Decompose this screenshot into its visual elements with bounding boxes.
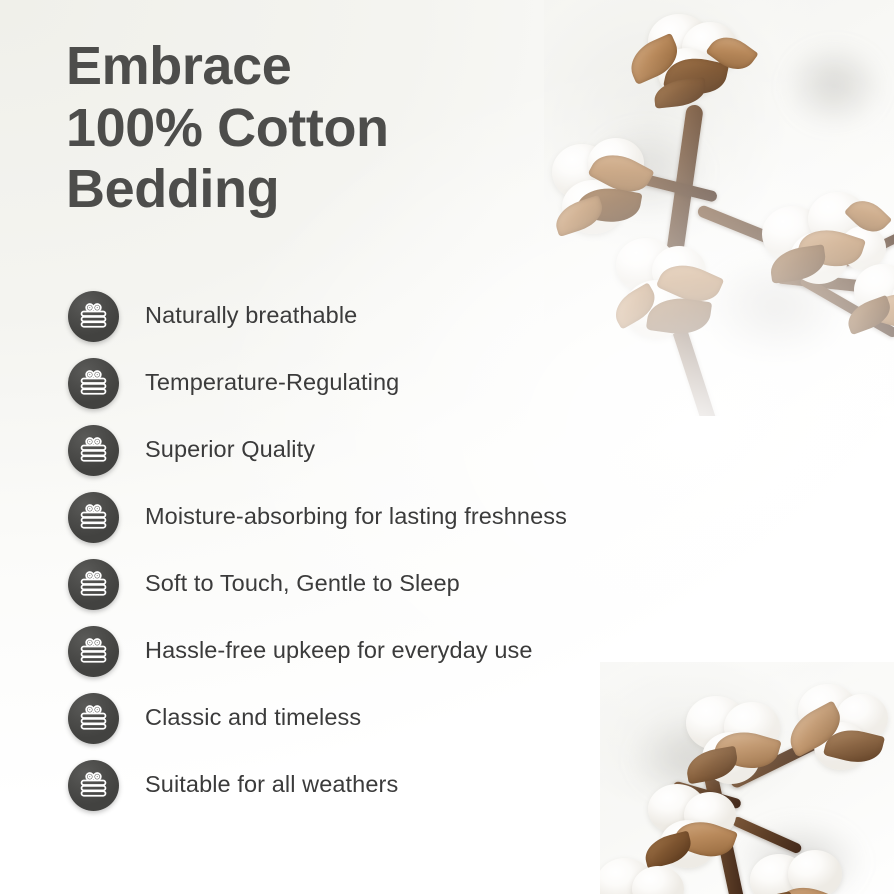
folded-linens-icon bbox=[68, 425, 119, 476]
feature-label: Naturally breathable bbox=[145, 304, 357, 328]
folded-linens-icon bbox=[68, 626, 119, 677]
folded-linens-icon bbox=[68, 492, 119, 543]
folded-linens-icon bbox=[68, 693, 119, 744]
feature-item: Hassle-free upkeep for everyday use bbox=[68, 625, 828, 677]
folded-linens-icon bbox=[68, 358, 119, 409]
feature-item: Classic and timeless bbox=[68, 692, 828, 744]
feature-item: Suitable for all weathers bbox=[68, 759, 828, 811]
feature-label: Suitable for all weathers bbox=[145, 773, 398, 797]
folded-linens-icon bbox=[68, 291, 119, 342]
feature-label: Soft to Touch, Gentle to Sleep bbox=[145, 572, 460, 596]
feature-label: Classic and timeless bbox=[145, 706, 361, 730]
folded-linens-icon bbox=[68, 559, 119, 610]
feature-label: Superior Quality bbox=[145, 438, 315, 462]
feature-item: Temperature-Regulating bbox=[68, 357, 828, 409]
feature-item: Moisture-absorbing for lasting freshness bbox=[68, 491, 828, 543]
feature-label: Temperature-Regulating bbox=[145, 371, 399, 395]
page-title: Embrace 100% Cotton Bedding bbox=[66, 36, 536, 221]
feature-label: Hassle-free upkeep for everyday use bbox=[145, 639, 533, 663]
feature-item: Superior Quality bbox=[68, 424, 828, 476]
feature-item: Soft to Touch, Gentle to Sleep bbox=[68, 558, 828, 610]
folded-linens-icon bbox=[68, 760, 119, 811]
feature-item: Naturally breathable bbox=[68, 290, 828, 342]
infographic-canvas: Embrace 100% Cotton Bedding Naturally br… bbox=[0, 0, 894, 894]
feature-list: Naturally breathable Temperature-Regulat… bbox=[68, 290, 828, 811]
feature-label: Moisture-absorbing for lasting freshness bbox=[145, 505, 567, 529]
